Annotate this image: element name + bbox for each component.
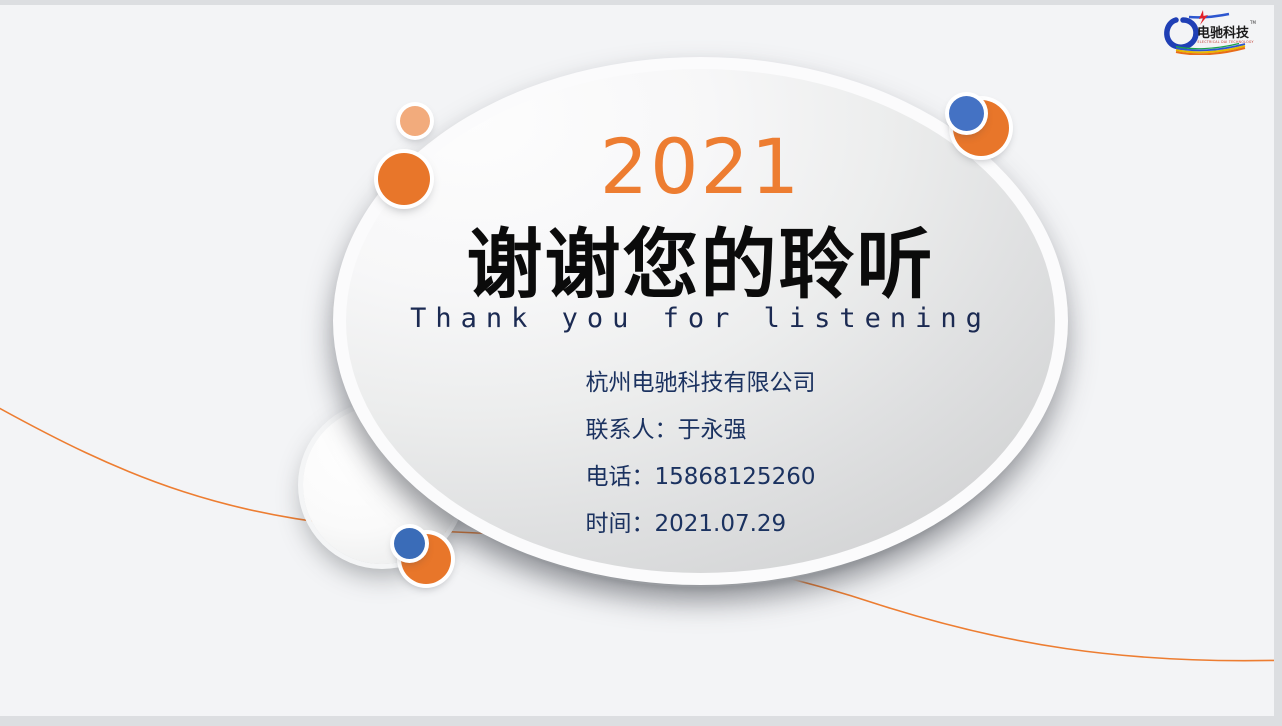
contact-date: 时间：2021.07.29: [586, 501, 816, 548]
contact-phone: 电话：15868125260: [586, 454, 816, 501]
contact-block: 杭州电驰科技有限公司 联系人：于永强 电话：15868125260 时间：202…: [586, 360, 816, 548]
logo-name-cn: 电驰科技: [1197, 25, 1250, 41]
frame-bottom-edge: [0, 716, 1282, 726]
page-title: 谢谢您的聆听: [333, 225, 1068, 305]
contact-person: 联系人：于永强: [586, 407, 816, 454]
frame-top-edge: [0, 0, 1282, 5]
slide-content: 2021 谢谢您的聆听 Thank you for listening 杭州电驰…: [333, 57, 1068, 585]
frame-right-edge: [1274, 0, 1282, 726]
company-logo: 电驰科技 ELECTRICAL DAI TECHNOLOGY TM: [1159, 8, 1264, 55]
logo-name-en: ELECTRICAL DAI TECHNOLOGY: [1198, 40, 1254, 44]
slide-canvas: 2021 谢谢您的聆听 Thank you for listening 杭州电驰…: [0, 5, 1274, 716]
page-subtitle: Thank you for listening: [333, 303, 1068, 334]
year-label: 2021: [333, 129, 1068, 205]
contact-company: 杭州电驰科技有限公司: [586, 360, 816, 407]
wave-line-right: [880, 605, 1274, 661]
logo-trademark: TM: [1249, 20, 1256, 25]
